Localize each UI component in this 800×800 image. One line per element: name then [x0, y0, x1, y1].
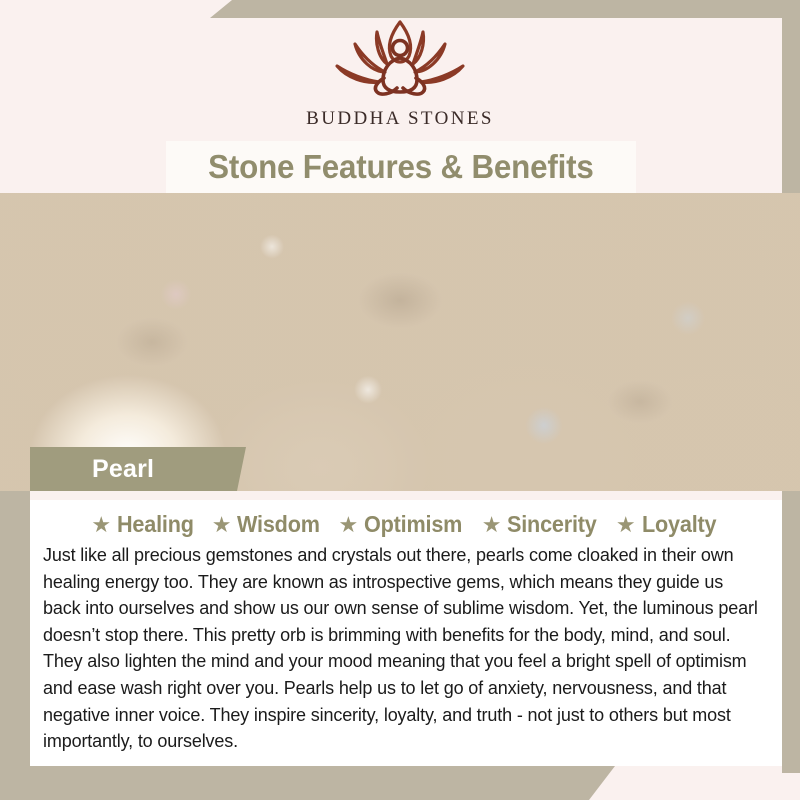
hero-pearl-photo [0, 193, 800, 491]
pearl-photo-highlights [0, 193, 800, 491]
benefit-label: Healing [117, 511, 194, 538]
benefit-label: Sincerity [507, 511, 597, 538]
stone-benefits-poster: BUDDHA STONES Stone Features & Benefits … [0, 0, 800, 800]
benefit-item-optimism: ★ Optimism [339, 511, 469, 538]
page-title: Stone Features & Benefits [208, 148, 593, 186]
content-card: ★ Healing ★ Wisdom ★ Optimism ★ Sincerit… [30, 500, 782, 766]
stone-name-band: Pearl [30, 447, 246, 491]
star-icon: ★ [91, 514, 111, 536]
brand-name: BUDDHA STONES [0, 108, 800, 130]
benefit-item-wisdom: ★ Wisdom [212, 511, 326, 538]
benefit-label: Wisdom [237, 511, 320, 538]
benefits-row: ★ Healing ★ Wisdom ★ Optimism ★ Sincerit… [30, 500, 782, 538]
title-banner: Stone Features & Benefits [166, 141, 636, 193]
body-description-text: Just like all precious gemstones and cry… [43, 542, 758, 755]
star-icon: ★ [339, 514, 359, 536]
brand-logo-block: BUDDHA STONES [0, 14, 800, 130]
benefit-item-loyalty: ★ Loyalty [616, 511, 721, 538]
lotus-meditation-icon [325, 14, 475, 106]
star-icon: ★ [482, 514, 502, 536]
star-icon: ★ [212, 514, 232, 536]
star-icon: ★ [616, 514, 636, 536]
benefit-label: Optimism [364, 511, 462, 538]
corner-decoration-bottom-left [0, 766, 615, 800]
benefit-item-healing: ★ Healing [91, 511, 198, 538]
benefit-label: Loyalty [642, 511, 716, 538]
stone-name: Pearl [92, 455, 154, 484]
benefit-item-sincerity: ★ Sincerity [482, 511, 603, 538]
